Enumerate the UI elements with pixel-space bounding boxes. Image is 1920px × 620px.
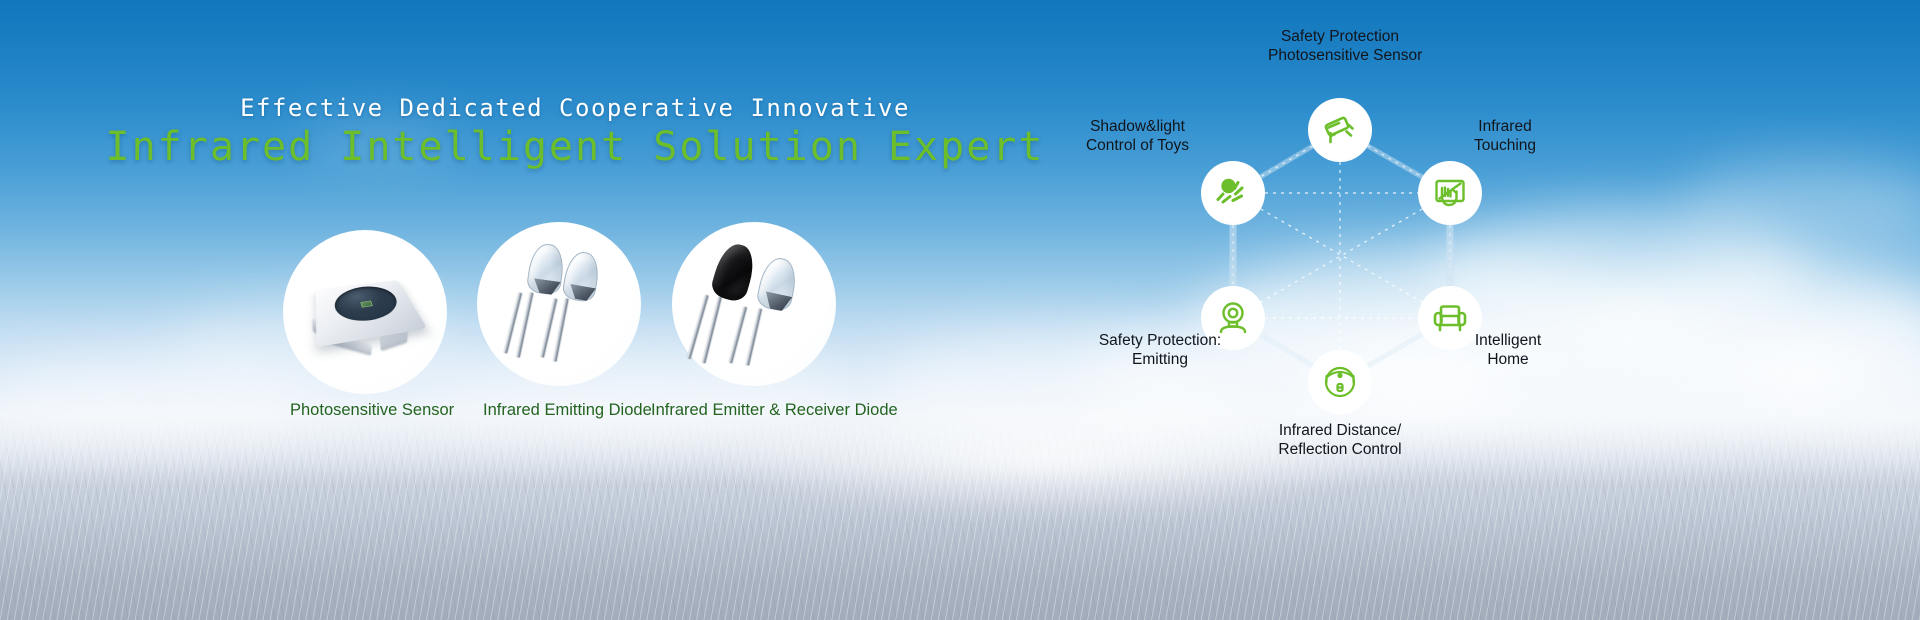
product-circle-infrared-emitting-diode[interactable] xyxy=(477,222,641,386)
app-label-infrared-touching: Infrared Touching xyxy=(1450,118,1560,156)
robot-vacuum-icon xyxy=(1321,363,1359,401)
product-caption: Infrared Emitter & Receiver Diode xyxy=(651,401,859,420)
product-circle-infrared-emitter-receiver-diode[interactable] xyxy=(672,222,836,386)
hexagon-connector-lines xyxy=(1100,30,1660,590)
application-hexagon-diagram: Safety Protection Photosensitive Sensor … xyxy=(1100,30,1660,590)
app-label-intelligent-home: Intelligent Home xyxy=(1448,332,1568,370)
app-label-line2: Home xyxy=(1448,351,1568,370)
app-label-shadow-light-control-of-toys: Shadow&light Control of Toys xyxy=(1075,118,1200,156)
product-circle-photosensitive-sensor[interactable] xyxy=(283,230,447,394)
product-caption: Photosensitive Sensor xyxy=(290,401,440,420)
app-label-line2: Photosensitive Sensor xyxy=(1268,47,1412,66)
app-label-line2: Touching xyxy=(1450,137,1560,156)
app-label-line1: Safety Protection: xyxy=(1080,332,1240,351)
security-camera-icon xyxy=(1321,111,1359,149)
app-node-safety-protection-photosensitive-sensor[interactable] xyxy=(1308,98,1372,162)
app-label-line1: Safety Protection xyxy=(1268,28,1412,47)
product-caption: Infrared Emitting Diode xyxy=(483,401,633,420)
through-hole-led-pair-icon xyxy=(477,222,641,386)
app-label-infrared-distance-reflection-control: Infrared Distance/ Reflection Control xyxy=(1260,422,1420,460)
app-label-line1: Intelligent xyxy=(1448,332,1568,351)
app-label-line2: Emitting xyxy=(1080,351,1240,370)
app-label-line1: Shadow&light xyxy=(1075,118,1200,137)
app-label-line2: Reflection Control xyxy=(1260,441,1420,460)
app-label-safety-protection-emitting: Safety Protection: Emitting xyxy=(1080,332,1240,370)
black-and-clear-led-pair-icon xyxy=(672,222,836,386)
app-node-shadow-light-control-of-toys[interactable] xyxy=(1201,161,1265,225)
smd-photosensor-icon xyxy=(309,262,421,362)
app-node-infrared-distance-reflection-control[interactable] xyxy=(1308,350,1372,414)
app-label-line1: Infrared xyxy=(1450,118,1560,137)
app-label-line1: Infrared Distance/ xyxy=(1260,422,1420,441)
app-label-line2: Control of Toys xyxy=(1075,137,1200,156)
light-rays-icon xyxy=(1214,174,1252,212)
app-label-safety-protection-photosensitive-sensor: Safety Protection Photosensitive Sensor xyxy=(1268,28,1412,66)
page-title: Infrared Intelligent Solution Expert xyxy=(0,124,1150,170)
tagline-text: Effective Dedicated Cooperative Innovati… xyxy=(0,94,1150,122)
hand-touch-screen-icon xyxy=(1431,174,1469,212)
app-node-infrared-touching[interactable] xyxy=(1418,161,1482,225)
banner-stage: Effective Dedicated Cooperative Innovati… xyxy=(0,0,1920,620)
cloud-blob xyxy=(0,350,320,445)
